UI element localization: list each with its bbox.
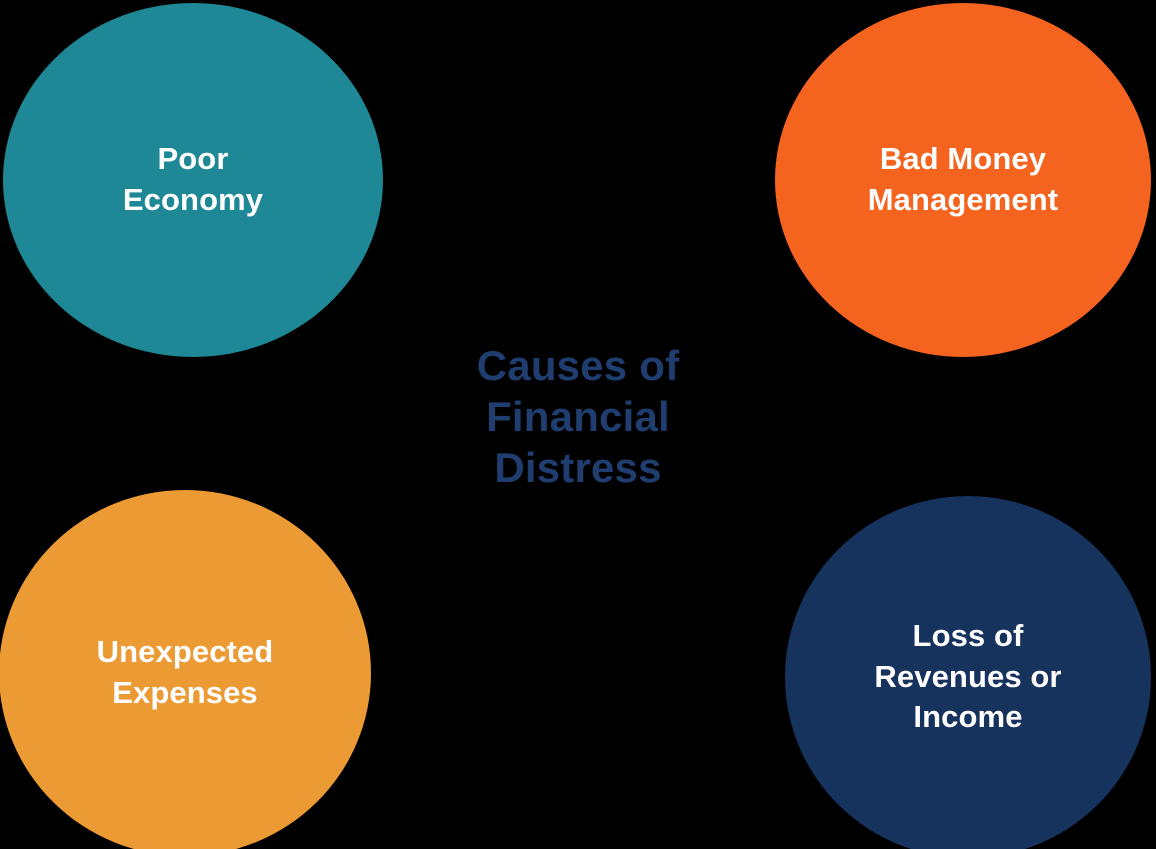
bubble-poor-economy[interactable]: Poor Economy <box>3 3 383 357</box>
diagram-canvas: Poor Economy Bad Money Management Unexpe… <box>0 0 1156 849</box>
bubble-unexpected-expenses-label: Unexpected Expenses <box>83 632 288 714</box>
bubble-bad-money-management[interactable]: Bad Money Management <box>775 3 1151 357</box>
bubble-loss-of-revenues-or-income-label: Loss of Revenues or Income <box>860 616 1075 739</box>
bubble-unexpected-expenses[interactable]: Unexpected Expenses <box>0 490 371 849</box>
diagram-center-title: Causes of Financial Distress <box>408 340 748 494</box>
bubble-bad-money-management-label: Bad Money Management <box>854 139 1072 221</box>
bubble-loss-of-revenues-or-income[interactable]: Loss of Revenues or Income <box>785 496 1151 849</box>
bubble-poor-economy-label: Poor Economy <box>109 139 277 221</box>
